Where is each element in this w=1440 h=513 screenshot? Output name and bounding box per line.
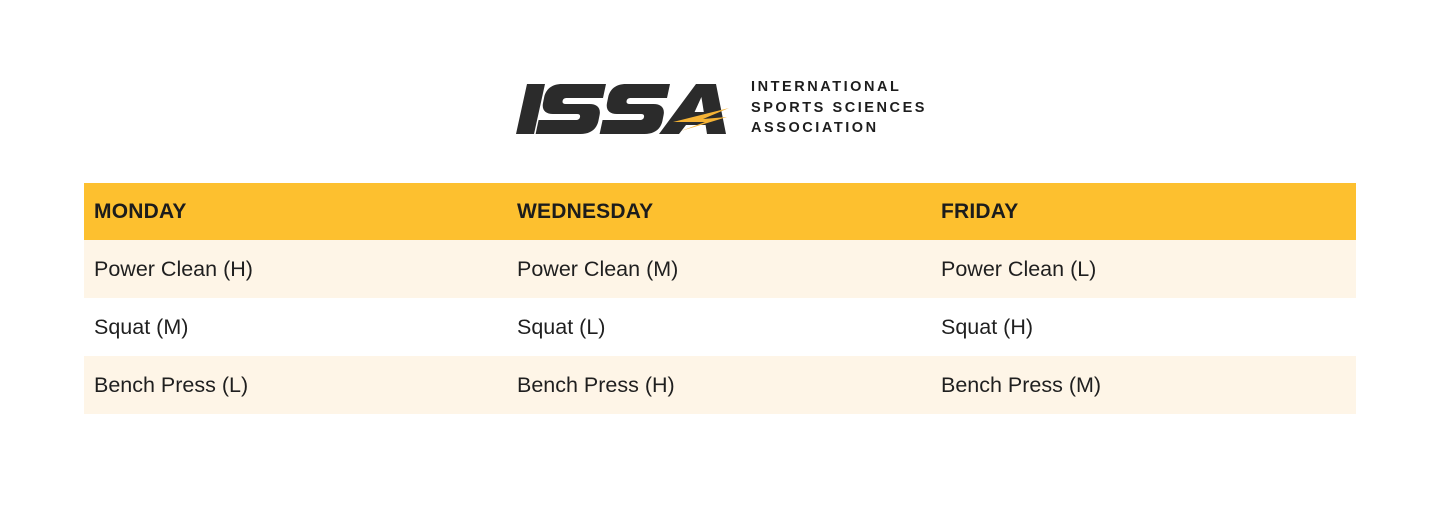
issa-tagline: INTERNATIONAL SPORTS SCIENCES ASSOCIATIO… <box>751 80 927 138</box>
cell-monday-exercise-1: Power Clean (H) <box>84 240 507 298</box>
column-header-friday: FRIDAY <box>931 183 1356 240</box>
tagline-line-3: ASSOCIATION <box>751 121 927 136</box>
table-body: Power Clean (H) Power Clean (M) Power Cl… <box>84 240 1356 414</box>
table-row: Power Clean (H) Power Clean (M) Power Cl… <box>84 240 1356 298</box>
tagline-line-2: SPORTS SCIENCES <box>751 101 927 116</box>
table-header: MONDAY WEDNESDAY FRIDAY <box>84 183 1356 240</box>
tagline-line-1: INTERNATIONAL <box>751 80 927 95</box>
cell-monday-exercise-3: Bench Press (L) <box>84 356 507 414</box>
cell-friday-exercise-3: Bench Press (M) <box>931 356 1356 414</box>
cell-friday-exercise-2: Squat (H) <box>931 298 1356 356</box>
cell-wednesday-exercise-1: Power Clean (M) <box>507 240 931 298</box>
column-header-wednesday: WEDNESDAY <box>507 183 931 240</box>
table-header-row: MONDAY WEDNESDAY FRIDAY <box>84 183 1356 240</box>
table-row: Bench Press (L) Bench Press (H) Bench Pr… <box>84 356 1356 414</box>
page-root: INTERNATIONAL SPORTS SCIENCES ASSOCIATIO… <box>0 0 1440 513</box>
cell-wednesday-exercise-3: Bench Press (H) <box>507 356 931 414</box>
cell-wednesday-exercise-2: Squat (L) <box>507 298 931 356</box>
workout-schedule-table: MONDAY WEDNESDAY FRIDAY Power Clean (H) … <box>84 183 1356 414</box>
issa-logo: INTERNATIONAL SPORTS SCIENCES ASSOCIATIO… <box>0 78 1440 140</box>
cell-friday-exercise-1: Power Clean (L) <box>931 240 1356 298</box>
issa-wordmark-icon <box>513 78 731 140</box>
table-row: Squat (M) Squat (L) Squat (H) <box>84 298 1356 356</box>
cell-monday-exercise-2: Squat (M) <box>84 298 507 356</box>
column-header-monday: MONDAY <box>84 183 507 240</box>
